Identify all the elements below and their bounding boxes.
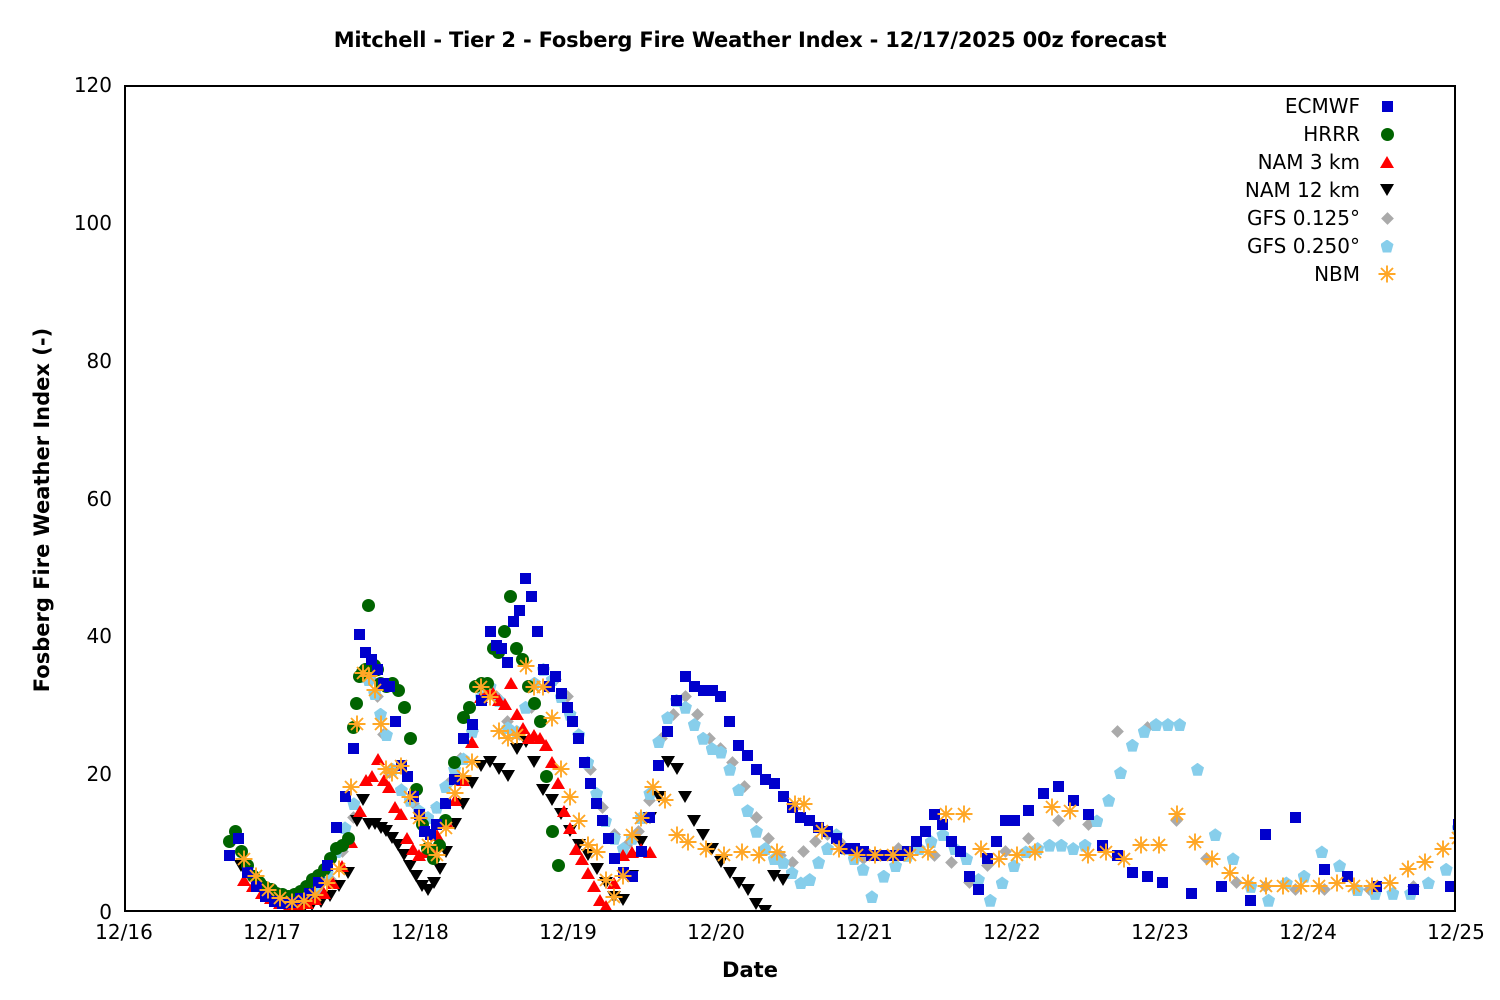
legend-marker-square (1374, 101, 1400, 112)
y-tick-label: 40 (16, 624, 112, 648)
data-point (1115, 850, 1133, 868)
data-point (813, 822, 831, 840)
data-point (1061, 802, 1079, 820)
data-point (1257, 877, 1275, 895)
x-tick-label: 12/25 (1386, 920, 1500, 944)
data-point (348, 715, 366, 733)
data-point (508, 726, 526, 744)
legend-swatch-icon (1380, 184, 1394, 196)
legend-swatch-icon (1380, 156, 1394, 168)
data-point (605, 888, 623, 906)
y-tick-label: 80 (16, 349, 112, 373)
data-point (1079, 846, 1097, 864)
data-point (366, 681, 384, 699)
data-point (1310, 877, 1328, 895)
data-point (1399, 860, 1417, 878)
data-point (1274, 877, 1292, 895)
data-point (1449, 829, 1454, 847)
data-point (1168, 805, 1186, 823)
legend-item-nam-3-km[interactable]: NAM 3 km (1150, 148, 1400, 176)
data-point (830, 840, 848, 858)
data-point (1328, 874, 1346, 892)
data-point (372, 715, 390, 733)
data-point (679, 833, 697, 851)
chart-legend: ECMWFHRRRNAM 3 kmNAM 12 kmGFS 0.125°GFS … (1150, 92, 1400, 288)
data-point (715, 846, 733, 864)
x-tick-label: 12/24 (1238, 920, 1378, 944)
data-point (1292, 877, 1310, 895)
data-point (437, 819, 455, 837)
data-point (901, 846, 919, 864)
data-point (446, 784, 464, 802)
legend-swatch-icon (1381, 128, 1394, 141)
data-point (1381, 874, 1399, 892)
data-point (919, 843, 937, 861)
data-point (597, 871, 615, 889)
data-point (866, 846, 884, 864)
legend-swatch-icon (1378, 265, 1396, 283)
data-point (623, 826, 641, 844)
data-point (517, 657, 535, 675)
data-point (570, 812, 588, 830)
y-tick-label: 120 (16, 73, 112, 97)
data-point (1150, 836, 1168, 854)
data-point (235, 850, 253, 868)
legend-item-ecmwf[interactable]: ECMWF (1150, 92, 1400, 120)
legend-item-nbm[interactable]: NBM (1150, 260, 1400, 288)
data-point (955, 805, 973, 823)
data-point (410, 809, 428, 827)
data-point (750, 846, 768, 864)
y-tick-label: 20 (16, 762, 112, 786)
x-tick-label: 12/20 (646, 920, 786, 944)
data-point (1363, 877, 1381, 895)
legend-label: NAM 12 km (1245, 178, 1374, 202)
data-point (588, 843, 606, 861)
data-point (990, 850, 1008, 868)
legend-label: NAM 3 km (1258, 150, 1374, 174)
data-point (463, 753, 481, 771)
x-tick-label: 12/16 (54, 920, 194, 944)
data-point (1132, 836, 1150, 854)
legend-marker-circle (1374, 128, 1400, 141)
data-point (656, 791, 674, 809)
data-point (795, 795, 813, 813)
data-point (884, 846, 902, 864)
legend-label: HRRR (1303, 122, 1374, 146)
data-point (972, 840, 990, 858)
legend-item-gfs-0-250[interactable]: GFS 0.250° (1150, 232, 1400, 260)
data-point (1008, 846, 1026, 864)
legend-item-hrrr[interactable]: HRRR (1150, 120, 1400, 148)
chart-title: Mitchell - Tier 2 - Fosberg Fire Weather… (0, 28, 1500, 52)
data-point (1026, 843, 1044, 861)
data-point (733, 843, 751, 861)
data-point (481, 688, 499, 706)
x-tick-label: 12/22 (942, 920, 1082, 944)
x-tick-label: 12/23 (1090, 920, 1230, 944)
data-point (1097, 843, 1115, 861)
legend-swatch-icon (1381, 240, 1394, 253)
legend-item-nam-12-km[interactable]: NAM 12 km (1150, 176, 1400, 204)
data-point (697, 840, 715, 858)
data-point (1221, 864, 1239, 882)
legend-label: ECMWF (1285, 94, 1374, 118)
y-tick-label: 60 (16, 487, 112, 511)
data-point (428, 846, 446, 864)
chart-page: Mitchell - Tier 2 - Fosberg Fire Weather… (0, 0, 1500, 1000)
legend-swatch-icon (1382, 101, 1393, 112)
data-point (552, 760, 570, 778)
legend-label: GFS 0.250° (1247, 234, 1374, 258)
x-tick-label: 12/19 (498, 920, 638, 944)
legend-marker-triangle-down (1374, 184, 1400, 196)
data-point (342, 778, 360, 796)
legend-swatch-icon (1381, 212, 1394, 225)
data-point (848, 846, 866, 864)
data-point (330, 860, 348, 878)
data-point (1043, 798, 1061, 816)
legend-item-gfs-0-125[interactable]: GFS 0.125° (1150, 204, 1400, 232)
x-tick-label: 12/18 (350, 920, 490, 944)
data-point (614, 867, 632, 885)
data-point (543, 709, 561, 727)
y-tick-label: 100 (16, 211, 112, 235)
legend-marker-pentagon (1374, 240, 1400, 253)
legend-marker-triangle-up (1374, 156, 1400, 168)
data-point (1345, 877, 1363, 895)
data-point (1203, 850, 1221, 868)
legend-marker-diamond (1374, 214, 1400, 223)
data-point (401, 788, 419, 806)
data-point (392, 757, 410, 775)
x-tick-label: 12/17 (202, 920, 342, 944)
data-point (534, 678, 552, 696)
legend-marker-asterisk (1374, 265, 1400, 283)
data-point (768, 843, 786, 861)
data-point (632, 809, 650, 827)
data-point (1416, 853, 1434, 871)
data-point (1186, 833, 1204, 851)
x-tick-label: 12/21 (794, 920, 934, 944)
legend-label: GFS 0.125° (1247, 206, 1374, 230)
data-point (1239, 874, 1257, 892)
x-axis-title: Date (0, 958, 1500, 982)
data-point (561, 788, 579, 806)
data-point (937, 805, 955, 823)
legend-label: NBM (1314, 262, 1374, 286)
